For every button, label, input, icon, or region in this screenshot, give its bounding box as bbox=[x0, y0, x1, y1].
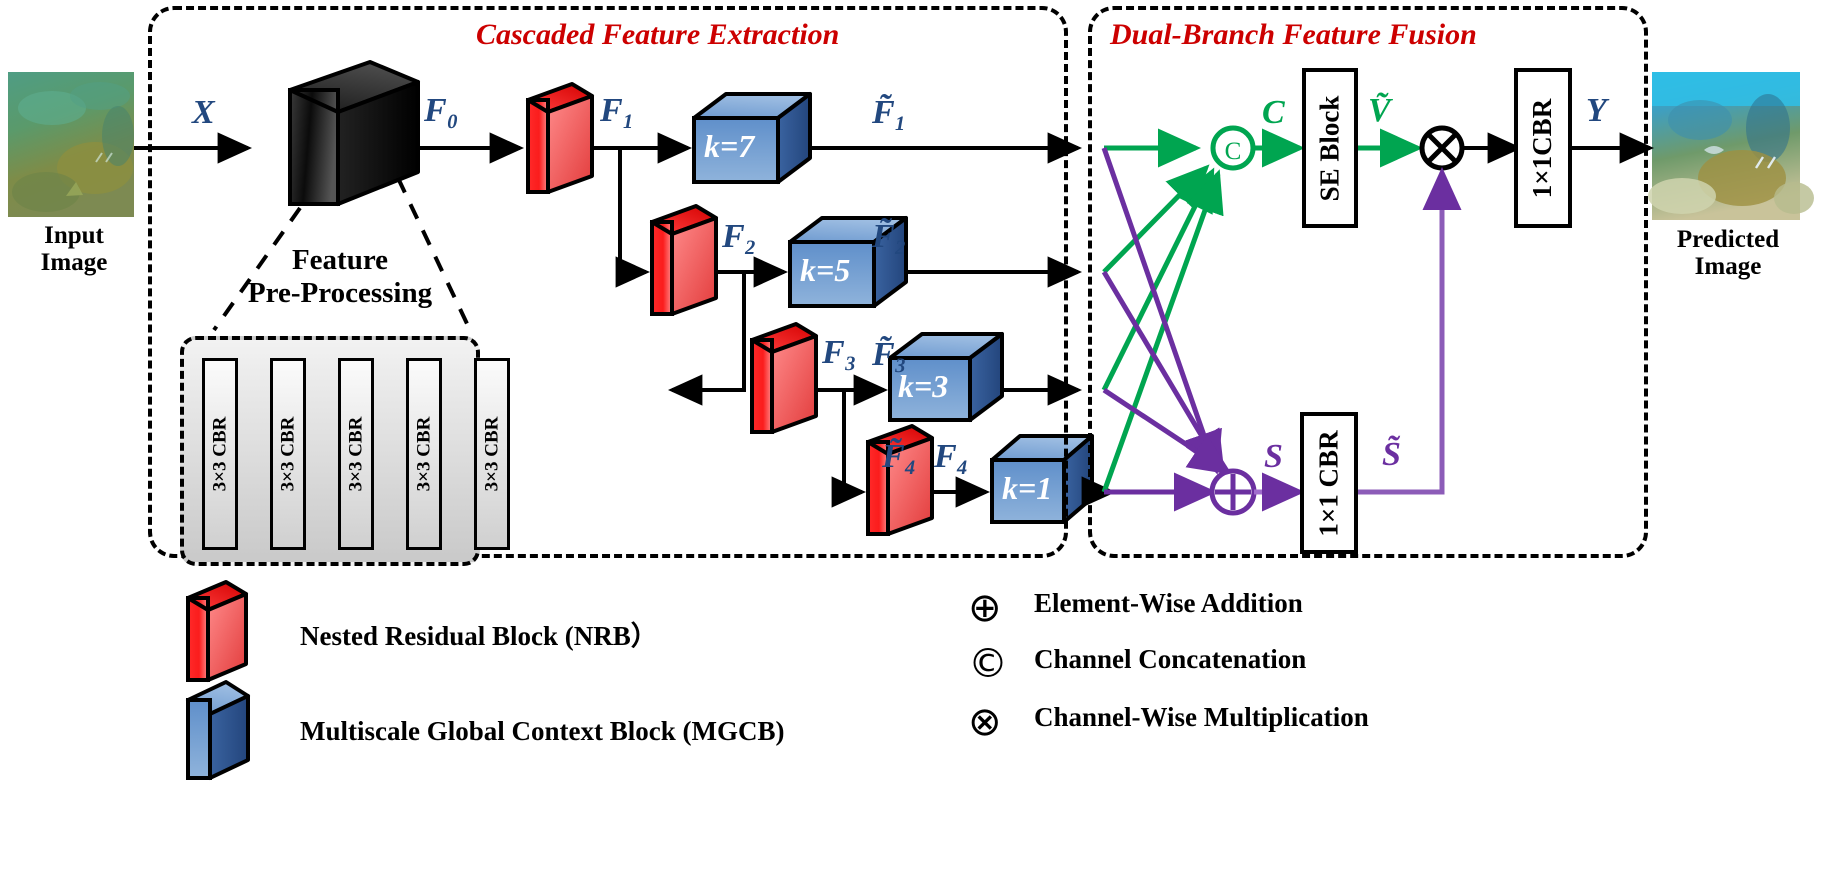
final-cbr-label: 1×1CBR bbox=[1528, 98, 1559, 197]
preprocess-label-line1: Feature bbox=[210, 244, 470, 277]
mgcb-label-k7: k=7 bbox=[704, 128, 754, 165]
tensor-label-f1: F₁ bbox=[600, 92, 635, 130]
cbr-block-3-label: 3×3 CBR bbox=[345, 417, 367, 492]
circled-times-icon: ⊗ bbox=[968, 702, 1002, 742]
se-block[interactable]: SE Block bbox=[1302, 68, 1358, 228]
preprocess-label: Feature Pre-Processing bbox=[210, 244, 470, 310]
legend-nrb-label: Nested Residual Block (NRB） bbox=[300, 614, 658, 653]
final-cbr-block[interactable]: 1×1CBR bbox=[1514, 68, 1572, 228]
legend-nrb-cube bbox=[188, 582, 246, 680]
cbr-block-4[interactable]: 3×3 CBR bbox=[406, 358, 442, 550]
tensor-label-y: Y bbox=[1586, 92, 1607, 130]
tensor-label-ft1: F̃₁ bbox=[872, 94, 907, 132]
legend-concatenation-label: Channel Concatenation bbox=[1034, 644, 1306, 675]
cbr-block-3[interactable]: 3×3 CBR bbox=[338, 358, 374, 550]
cbr-block-5-label: 3×3 CBR bbox=[481, 417, 503, 492]
one-by-one-cbr-label: 1×1 CBR bbox=[1314, 430, 1345, 536]
cbr-block-1[interactable]: 3×3 CBR bbox=[202, 358, 238, 550]
tensor-label-f4: F₄ bbox=[934, 438, 969, 476]
cbr-block-4-label: 3×3 CBR bbox=[413, 417, 435, 492]
tensor-label-f0: F₀ bbox=[424, 92, 459, 130]
section-title-cascaded: Cascaded Feature Extraction bbox=[476, 18, 839, 52]
tensor-label-c: C bbox=[1262, 94, 1285, 132]
tensor-label-f2: F₂ bbox=[722, 218, 757, 256]
predicted-caption-line2: Image bbox=[1640, 253, 1816, 280]
tensor-label-ft4: F̃₄ bbox=[882, 438, 917, 476]
legend-mgcb-label: Multiscale Global Context Block (MGCB) bbox=[300, 716, 784, 747]
input-image-photo bbox=[8, 72, 134, 217]
mgcb-label-k5: k=5 bbox=[800, 252, 850, 289]
predicted-image-caption: Predicted Image bbox=[1640, 226, 1816, 280]
legend-mgcb-cube bbox=[188, 682, 248, 778]
cbr-block-5[interactable]: 3×3 CBR bbox=[474, 358, 510, 550]
tensor-label-s-tilde: S̃ bbox=[1382, 436, 1401, 474]
mgcb-label-k1: k=1 bbox=[1002, 470, 1052, 507]
predicted-image-photo bbox=[1648, 72, 1814, 220]
cbr-chain-panel: 3×3 CBR 3×3 CBR 3×3 CBR 3×3 CBR 3×3 CBR bbox=[180, 336, 480, 566]
cbr-block-2-label: 3×3 CBR bbox=[277, 417, 299, 492]
predicted-caption-line1: Predicted bbox=[1640, 226, 1816, 253]
circled-c-icon: © bbox=[968, 644, 1008, 684]
legend-multiplication-label: Channel-Wise Multiplication bbox=[1034, 702, 1369, 733]
preprocess-label-line2: Pre-Processing bbox=[210, 277, 470, 310]
cbr-block-2[interactable]: 3×3 CBR bbox=[270, 358, 306, 550]
cbr-block-1-label: 3×3 CBR bbox=[209, 417, 231, 492]
input-image-caption: Input Image bbox=[0, 222, 148, 276]
one-by-one-cbr-block[interactable]: 1×1 CBR bbox=[1300, 412, 1358, 554]
tensor-label-f3: F₃ bbox=[822, 334, 857, 372]
input-caption-line1: Input bbox=[0, 222, 148, 249]
tensor-label-ft3: F̃₃ bbox=[872, 336, 907, 374]
section-title-dual-branch: Dual-Branch Feature Fusion bbox=[1110, 18, 1477, 52]
se-block-label: SE Block bbox=[1315, 95, 1346, 201]
tensor-label-x: X bbox=[192, 94, 215, 132]
legend-addition-label: Element-Wise Addition bbox=[1034, 588, 1303, 619]
tensor-label-s: S bbox=[1264, 438, 1283, 476]
input-caption-line2: Image bbox=[0, 249, 148, 276]
tensor-label-ft2: F̃₂ bbox=[872, 218, 907, 256]
tensor-label-v: Ṽ bbox=[1368, 92, 1391, 130]
circled-plus-icon: ⊕ bbox=[968, 588, 1002, 628]
